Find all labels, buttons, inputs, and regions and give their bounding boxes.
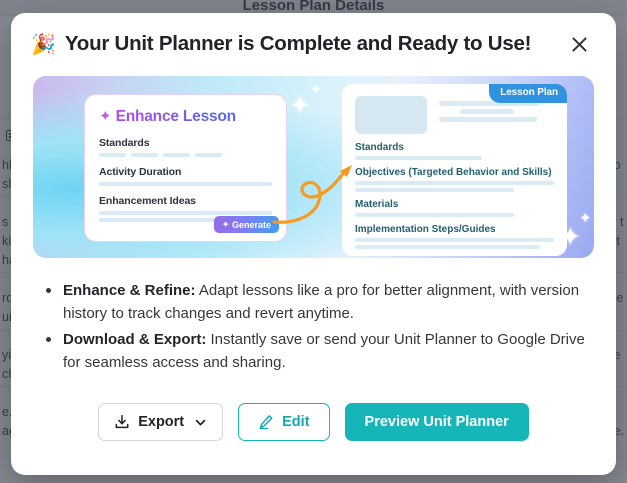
enhance-field-activity-duration: Activity Duration: [99, 166, 272, 186]
sparkle-icon: ✦: [310, 82, 322, 96]
dialog-header: 🎉 Your Unit Planner is Complete and Read…: [11, 13, 616, 75]
chevron-down-icon: [194, 416, 207, 429]
list-item: Download & Export: Instantly save or sen…: [45, 328, 588, 374]
placeholder-bar: [99, 182, 272, 186]
dialog-title: Your Unit Planner is Complete and Ready …: [65, 32, 531, 56]
enhance-field-standards: Standards: [99, 137, 272, 157]
placeholder-bar: [99, 218, 222, 222]
enhance-lesson-heading: Enhance Lesson: [116, 108, 236, 126]
sparkle-icon: ✦: [222, 221, 229, 229]
preview-unit-planner-button[interactable]: Preview Unit Planner: [345, 403, 529, 441]
preview-button-label: Preview Unit Planner: [365, 414, 509, 430]
lesson-plan-field-label: Implementation Steps/Guides: [355, 224, 554, 235]
edit-button-label: Edit: [282, 414, 309, 430]
close-icon: [571, 36, 588, 53]
placeholder-bar: [99, 153, 126, 157]
pencil-icon: [258, 414, 274, 430]
generate-button[interactable]: ✦ Generate: [214, 216, 279, 233]
screen-root: Lesson Plan Details hlsls tkiharouiyiche…: [0, 0, 627, 483]
dialog-title-group: 🎉 Your Unit Planner is Complete and Read…: [31, 32, 564, 56]
sparkle-icon: ✦: [579, 211, 592, 226]
lesson-plan-field-label: Objectives (Targeted Behavior and Skills…: [355, 167, 554, 178]
lesson-plan-field-materials: Materials: [355, 199, 554, 217]
sparkle-icon: ✦: [289, 92, 311, 118]
edit-button[interactable]: Edit: [238, 403, 329, 441]
lesson-plan-field-objectives: Objectives (Targeted Behavior and Skills…: [355, 167, 554, 192]
enhance-field-label: Standards: [99, 137, 272, 149]
placeholder-bar: [439, 117, 537, 122]
feature-illustration: ✦ ✦ ✦ ✦ ✦ Enhance Lesson Standards: [33, 76, 594, 258]
dialog-actions: Export Edit Preview Unit Planner: [11, 403, 616, 475]
export-button-label: Export: [138, 414, 184, 430]
unit-planner-complete-dialog: 🎉 Your Unit Planner is Complete and Read…: [11, 13, 616, 475]
placeholder-bar: [355, 181, 554, 185]
feature-bullet-list: Enhance & Refine: Adapt lessons like a p…: [45, 279, 588, 377]
placeholder-bar: [355, 156, 482, 160]
placeholder-bar: [163, 153, 190, 157]
placeholder-bar: [355, 213, 514, 217]
placeholder-bar: [195, 153, 222, 157]
placeholder-bar: [460, 109, 514, 114]
lesson-plan-field-label: Standards: [355, 142, 554, 153]
download-icon: [114, 414, 130, 430]
lesson-plan-badge: Lesson Plan: [489, 84, 567, 103]
enhance-field-label: Enhancement Ideas: [99, 195, 272, 207]
lesson-plan-field-implementation: Implementation Steps/Guides: [355, 224, 554, 249]
enhance-lesson-heading-row: ✦ Enhance Lesson: [99, 108, 272, 126]
lesson-plan-card: Lesson Plan Standards Objectives (Target…: [342, 84, 567, 256]
placeholder-bar: [355, 188, 514, 192]
placeholder-bar: [355, 245, 540, 249]
close-button[interactable]: [564, 29, 594, 59]
enhance-lesson-card: ✦ Enhance Lesson Standards Activity Dura…: [84, 94, 287, 242]
bullet-lead: Enhance & Refine:: [63, 282, 196, 299]
placeholder-chips: [99, 153, 272, 157]
party-popper-icon: 🎉: [31, 35, 56, 55]
list-item: Enhance & Refine: Adapt lessons like a p…: [45, 279, 588, 325]
lesson-plan-field-standards: Standards: [355, 142, 554, 160]
lesson-plan-field-label: Materials: [355, 199, 554, 210]
generate-button-label: Generate: [232, 220, 271, 230]
placeholder-bar: [131, 153, 158, 157]
placeholder-bar: [355, 238, 554, 242]
enhance-field-label: Activity Duration: [99, 166, 272, 178]
bullet-lead: Download & Export:: [63, 331, 206, 348]
export-button[interactable]: Export: [98, 403, 223, 441]
placeholder-bar: [99, 211, 272, 215]
lesson-plan-thumbnail: [355, 96, 427, 134]
sparkle-icon: ✦: [99, 109, 112, 124]
